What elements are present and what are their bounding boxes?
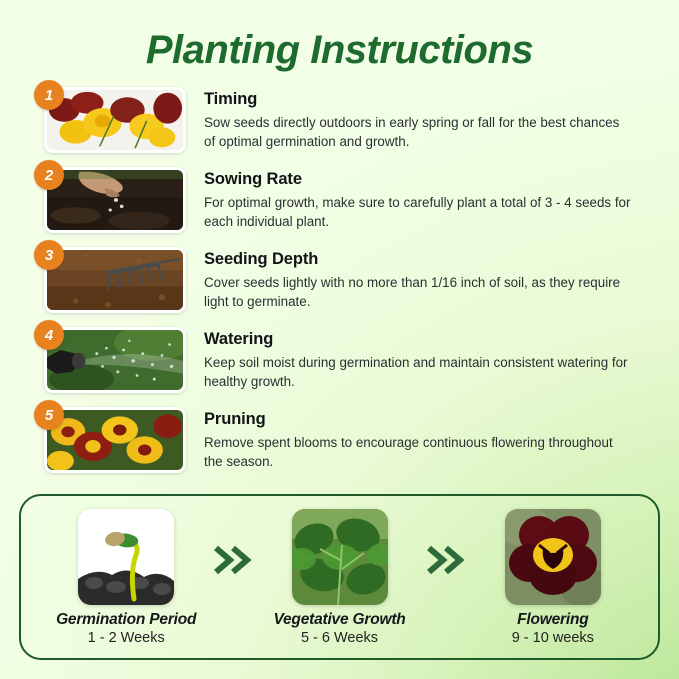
dark-red-pansy-photo xyxy=(505,509,601,605)
step-item: 3 Seeding xyxy=(0,247,679,317)
sprouting-seed-photo xyxy=(78,509,174,605)
step-item: 5 Pruning Remove spent bl xyxy=(0,407,679,477)
page-title: Planting Instructions xyxy=(0,0,679,73)
step-item: 4 xyxy=(0,327,679,397)
step-title: Seeding Depth xyxy=(204,249,679,270)
step-thumbnail-wrap: 5 xyxy=(44,407,190,473)
double-chevron-right-icon xyxy=(423,544,470,610)
step-thumbnail-wrap: 3 xyxy=(44,247,190,313)
double-chevron-right-icon xyxy=(209,544,256,610)
step-number-badge: 2 xyxy=(34,160,64,190)
yellow-red-pansies-photo xyxy=(44,407,186,473)
step-text: Pruning Remove spent blooms to encourage… xyxy=(190,407,679,471)
step-number-badge: 1 xyxy=(34,80,64,110)
step-text: Watering Keep soil moist during germinat… xyxy=(190,327,679,391)
stage-duration: 5 - 6 Weeks xyxy=(256,630,422,646)
step-item: 2 Sowing Rate For optimal growth, ma xyxy=(0,167,679,237)
step-item: 1 Timing Sow seeds direct xyxy=(0,87,679,157)
timeline-stage: Vegetative Growth 5 - 6 Weeks xyxy=(256,509,422,646)
step-title: Timing xyxy=(204,89,679,110)
pansy-flowers-photo xyxy=(44,87,186,153)
step-description: For optimal growth, make sure to careful… xyxy=(204,193,634,231)
step-number-badge: 4 xyxy=(34,320,64,350)
stage-name: Vegetative Growth xyxy=(256,611,422,629)
step-description: Sow seeds directly outdoors in early spr… xyxy=(204,113,634,151)
step-text: Seeding Depth Cover seeds lightly with n… xyxy=(190,247,679,311)
step-title: Watering xyxy=(204,329,679,350)
stage-duration: 9 - 10 weeks xyxy=(470,630,636,646)
step-description: Remove spent blooms to encourage continu… xyxy=(204,433,634,471)
step-number-badge: 3 xyxy=(34,240,64,270)
stage-duration: 1 - 2 Weeks xyxy=(43,630,209,646)
step-text: Sowing Rate For optimal growth, make sur… xyxy=(190,167,679,231)
step-thumbnail-wrap: 2 xyxy=(44,167,190,233)
stage-name: Flowering xyxy=(470,611,636,629)
timeline-stage: Germination Period 1 - 2 Weeks xyxy=(43,509,209,646)
rake-in-soil-photo xyxy=(44,247,186,313)
green-foliage-photo xyxy=(292,509,388,605)
stage-name: Germination Period xyxy=(43,611,209,629)
growth-timeline-card: Germination Period 1 - 2 Weeks xyxy=(19,494,660,660)
step-thumbnail-wrap: 4 xyxy=(44,327,190,393)
step-description: Cover seeds lightly with no more than 1/… xyxy=(204,273,634,311)
timeline-stage: Flowering 9 - 10 weeks xyxy=(470,509,636,646)
step-text: Timing Sow seeds directly outdoors in ea… xyxy=(190,87,679,151)
steps-list: 1 Timing Sow seeds direct xyxy=(0,87,679,477)
step-thumbnail-wrap: 1 xyxy=(44,87,190,153)
step-title: Pruning xyxy=(204,409,679,430)
hand-sowing-seeds-photo xyxy=(44,167,186,233)
step-description: Keep soil moist during germination and m… xyxy=(204,353,634,391)
hose-watering-photo xyxy=(44,327,186,393)
step-number-badge: 5 xyxy=(34,400,64,430)
step-title: Sowing Rate xyxy=(204,169,679,190)
